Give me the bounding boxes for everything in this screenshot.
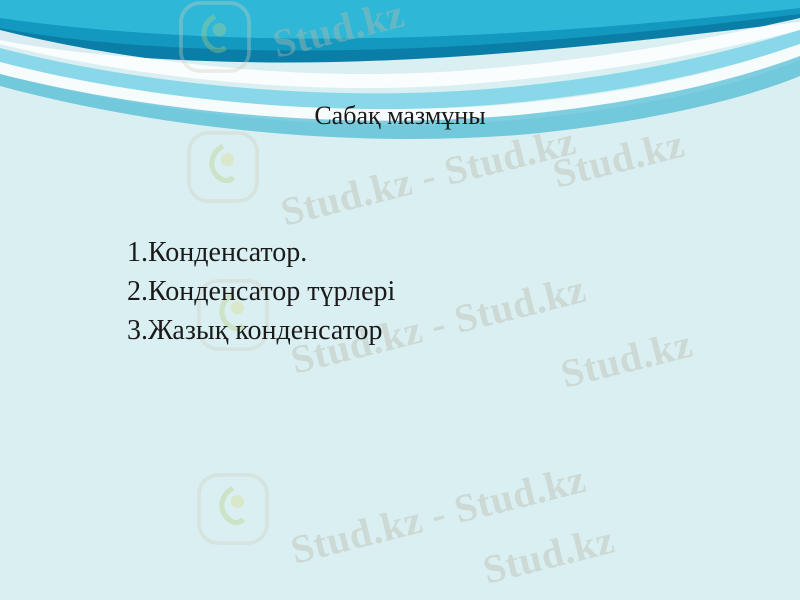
presentation-slide: Stud.kz Stud.kz - Stud.kz Stud.kz - Stud… [0,0,800,600]
list-item: 2.Конденсатор түрлері [127,272,767,311]
slide-body-list: 1.Конденсатор. 2.Конденсатор түрлері 3.Ж… [127,233,767,350]
list-item: 1.Конденсатор. [127,233,767,272]
list-item: 3.Жазық конденсатор [127,311,767,350]
slide-title: Сабақ мазмұны [0,101,800,131]
slide-content: Сабақ мазмұны 1.Конденсатор. 2.Конденсат… [0,0,800,600]
